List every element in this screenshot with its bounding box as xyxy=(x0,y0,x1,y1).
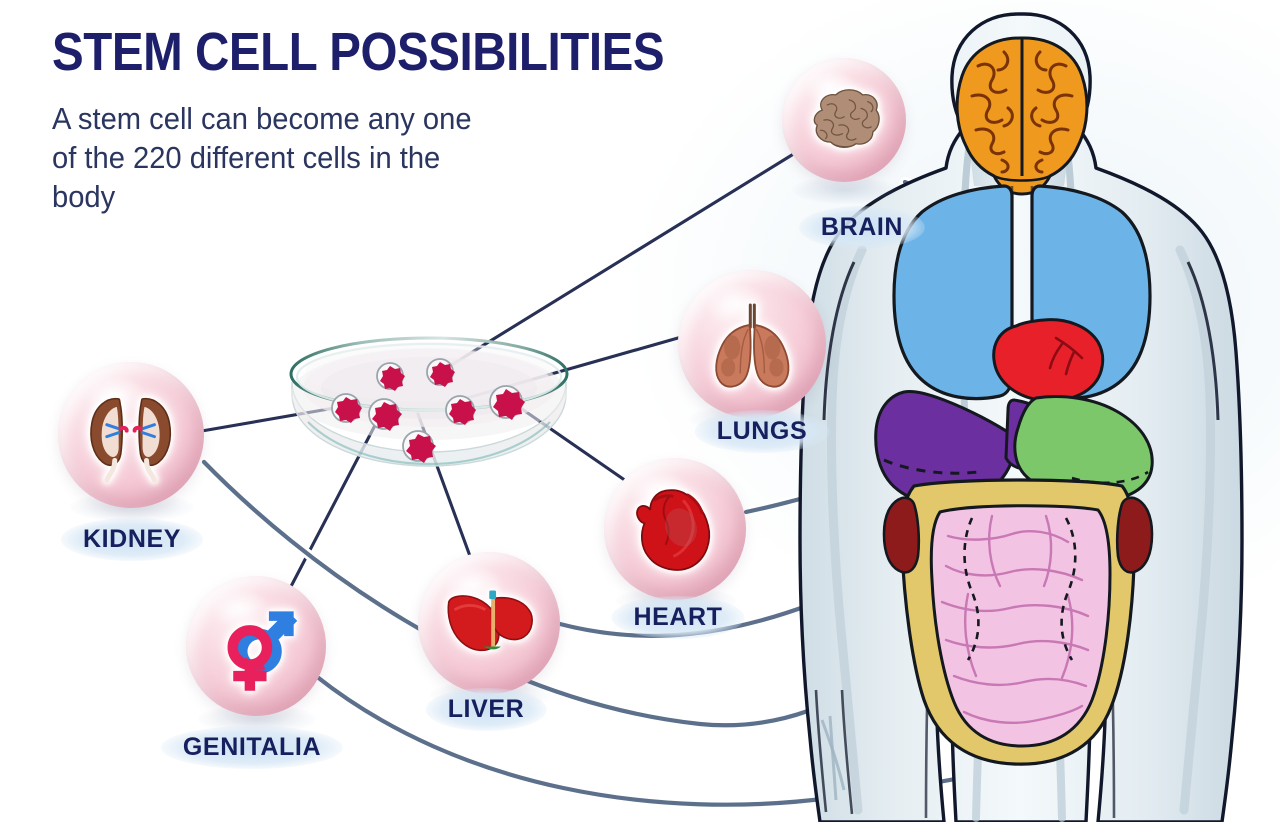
gender-symbols-icon xyxy=(208,598,303,693)
organ-label-heart: HEART xyxy=(611,596,744,639)
petri-dish xyxy=(284,336,574,496)
organ-bubble-genitalia[interactable] xyxy=(186,576,326,716)
organ-bubble-lungs[interactable] xyxy=(678,270,826,418)
organ-label-brain: BRAIN xyxy=(799,206,925,249)
infographic-canvas: BRAIN LUNGS xyxy=(0,0,1280,822)
organ-label-lungs: LUNGS xyxy=(695,410,830,453)
organ-bubble-brain[interactable] xyxy=(782,58,906,182)
brain-icon xyxy=(802,78,886,162)
organ-bubble-kidney[interactable] xyxy=(58,362,204,508)
liver-icon xyxy=(441,575,538,672)
title-block: STEM CELL POSSIBILITIES A stem cell can … xyxy=(52,24,692,216)
organ-bubble-heart[interactable] xyxy=(604,458,746,600)
organ-label-genitalia: GENITALIA xyxy=(161,726,343,769)
body-heart xyxy=(994,320,1103,401)
page-title: STEM CELL POSSIBILITIES xyxy=(52,24,615,81)
lungs-icon xyxy=(702,294,803,395)
organ-label-kidney: KIDNEY xyxy=(61,518,203,561)
organ-bubble-liver[interactable] xyxy=(418,552,560,694)
body-intestines xyxy=(931,506,1110,746)
kidney-icon xyxy=(81,385,180,484)
heart-icon xyxy=(627,481,724,578)
page-subtitle: A stem cell can become any one of the 22… xyxy=(52,99,503,216)
organ-label-liver: LIVER xyxy=(426,688,547,731)
